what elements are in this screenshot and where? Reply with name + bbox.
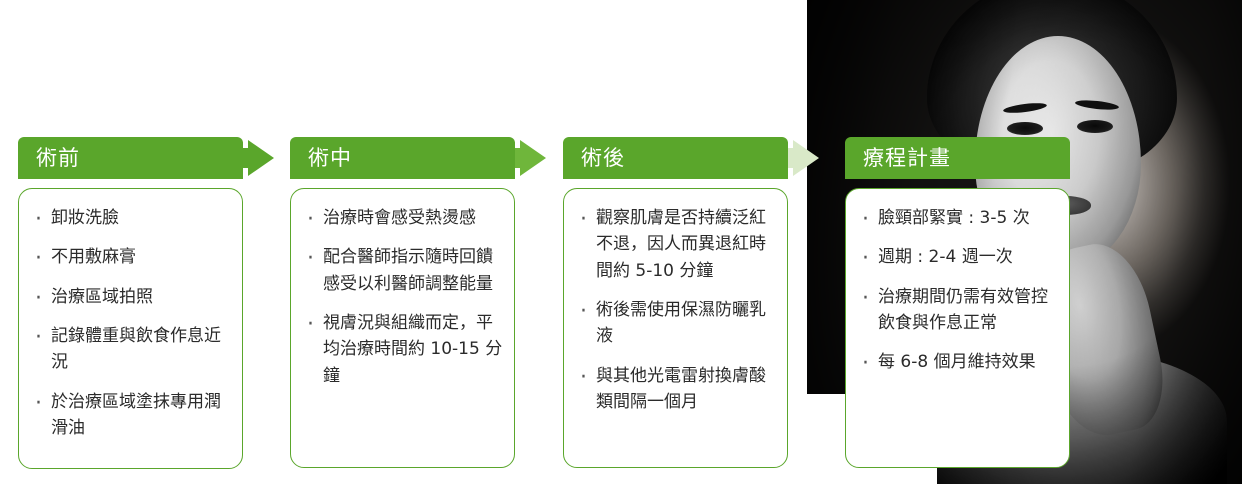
step-post-treatment[interactable]: 術後 觀察肌膚是否持續泛紅不退，因人而異退紅時間約 5-10 分鐘 術後需使用保… [563, 137, 788, 468]
list-item: 週期 : 2-4 週一次 [854, 244, 1059, 270]
step-body-1: 卸妝洗臉 不用敷麻膏 治療區域拍照 記錄體重與飲食作息近況 於治療區域塗抹專用潤… [18, 188, 243, 469]
list-item: 術後需使用保濕防曬乳液 [572, 297, 777, 350]
list-item: 配合醫師指示隨時回饋感受以利醫師調整能量 [299, 244, 504, 297]
step-title-2: 術中 [308, 148, 352, 169]
step-header-1: 術前 [18, 137, 243, 179]
list-item: 每 6-8 個月維持效果 [854, 349, 1059, 375]
list-item: 治療期間仍需有效管控飲食與作息正常 [854, 284, 1059, 337]
diagram-canvas: 術前 卸妝洗臉 不用敷麻膏 治療區域拍照 記錄體重與飲食作息近況 於治療區域塗抹… [0, 0, 1242, 484]
step-body-2: 治療時會感受熱燙感 配合醫師指示隨時回饋感受以利醫師調整能量 視膚況與組織而定，… [290, 188, 515, 468]
list-item: 觀察肌膚是否持續泛紅不退，因人而異退紅時間約 5-10 分鐘 [572, 205, 777, 284]
list-item: 臉頸部緊實 : 3-5 次 [854, 205, 1059, 231]
list-item: 與其他光電雷射換膚酸類間隔一個月 [572, 363, 777, 416]
step-header-3: 術後 [563, 137, 788, 179]
step-title-1: 術前 [36, 148, 80, 169]
list-item: 治療區域拍照 [27, 284, 232, 310]
list-item: 於治療區域塗抹專用潤滑油 [27, 389, 232, 442]
list-item: 治療時會感受熱燙感 [299, 205, 504, 231]
list-item: 視膚況與組織而定，平均治療時間約 10-15 分鐘 [299, 310, 504, 389]
step-treatment-plan[interactable]: 療程計畫 臉頸部緊實 : 3-5 次 週期 : 2-4 週一次 治療期間仍需有效… [845, 137, 1070, 468]
list-item: 卸妝洗臉 [27, 205, 232, 231]
list-item: 不用敷麻膏 [27, 244, 232, 270]
bullet-list-4: 臉頸部緊實 : 3-5 次 週期 : 2-4 週一次 治療期間仍需有效管控飲食與… [854, 205, 1059, 376]
step-title-3: 術後 [581, 148, 625, 169]
step-title-4: 療程計畫 [863, 148, 951, 169]
step-during-treatment[interactable]: 術中 治療時會感受熱燙感 配合醫師指示隨時回饋感受以利醫師調整能量 視膚況與組織… [290, 137, 515, 468]
bullet-list-3: 觀察肌膚是否持續泛紅不退，因人而異退紅時間約 5-10 分鐘 術後需使用保濕防曬… [572, 205, 777, 415]
list-item: 記錄體重與飲食作息近況 [27, 323, 232, 376]
step-header-4: 療程計畫 [845, 137, 1070, 179]
step-body-4: 臉頸部緊實 : 3-5 次 週期 : 2-4 週一次 治療期間仍需有效管控飲食與… [845, 188, 1070, 468]
step-body-3: 觀察肌膚是否持續泛紅不退，因人而異退紅時間約 5-10 分鐘 術後需使用保濕防曬… [563, 188, 788, 468]
step-pre-treatment[interactable]: 術前 卸妝洗臉 不用敷麻膏 治療區域拍照 記錄體重與飲食作息近況 於治療區域塗抹… [18, 137, 243, 469]
step-header-2: 術中 [290, 137, 515, 179]
bullet-list-1: 卸妝洗臉 不用敷麻膏 治療區域拍照 記錄體重與飲食作息近況 於治療區域塗抹專用潤… [27, 205, 232, 441]
bullet-list-2: 治療時會感受熱燙感 配合醫師指示隨時回饋感受以利醫師調整能量 視膚況與組織而定，… [299, 205, 504, 389]
